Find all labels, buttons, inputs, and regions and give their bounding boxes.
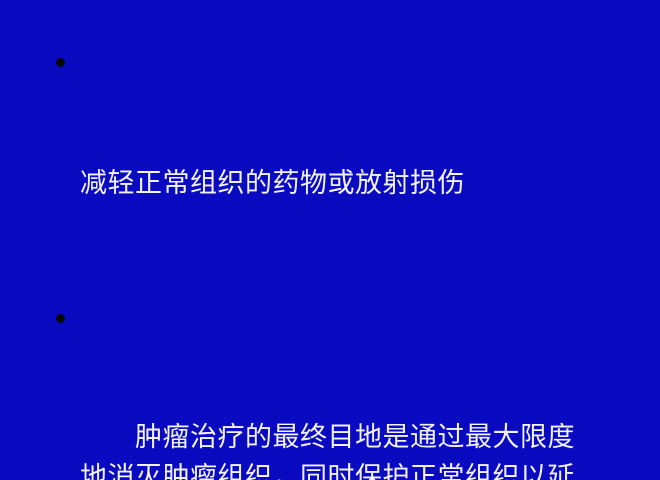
bullet-dot-icon: [56, 314, 65, 323]
slide-bullet-list: 减轻正常组织的药物或放射损伤 肿瘤治疗的最终目地是通过最大限度地消灭肿瘤组织，同…: [0, 44, 660, 480]
bullet-text: 肿瘤治疗的最终目地是通过最大限度地消灭肿瘤组织，同时保护正常组织以延长患者寿命和…: [80, 418, 598, 480]
presentation-slide: 减轻正常组织的药物或放射损伤 肿瘤治疗的最终目地是通过最大限度地消灭肿瘤组织，同…: [0, 0, 660, 480]
bullet-text: 减轻正常组织的药物或放射损伤: [80, 164, 598, 204]
list-item: 减轻正常组织的药物或放射损伤: [0, 44, 660, 284]
bullet-dot-icon: [56, 58, 65, 67]
list-item: 肿瘤治疗的最终目地是通过最大限度地消灭肿瘤组织，同时保护正常组织以延长患者寿命和…: [0, 298, 660, 480]
